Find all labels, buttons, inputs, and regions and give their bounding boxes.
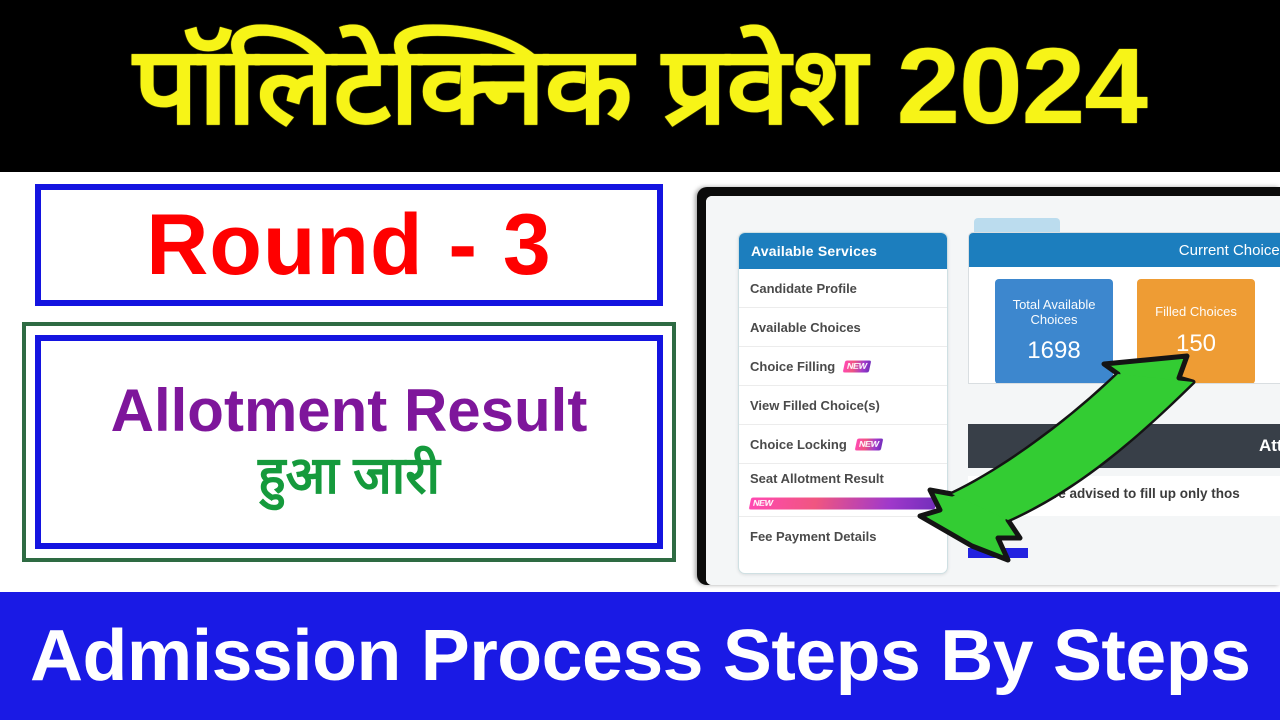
sidebar-item-seat-allotment-result[interactable]: Seat Allotment Result NEW — [739, 464, 947, 517]
service-label: Available Choices — [750, 320, 861, 335]
stat-value: 1698 — [1027, 337, 1080, 365]
note-number: 1 — [992, 486, 999, 501]
round-callout-box: Round - 3 — [35, 184, 663, 306]
sidebar-item-choice-locking[interactable]: Choice Locking NEW — [739, 425, 947, 464]
current-choice-header: Current Choice F — [969, 233, 1280, 267]
stat-value: 150 — [1176, 330, 1216, 358]
stat-label: Filled Choices — [1155, 305, 1237, 320]
thumbnail-canvas: पॉलिटेक्निक प्रवेश 2024 Round - 3 Allotm… — [0, 0, 1280, 720]
service-label: Choice Filling — [750, 359, 835, 374]
sidebar-item-view-filled-choices[interactable]: View Filled Choice(s) — [739, 386, 947, 425]
service-label: Fee Payment Details — [750, 529, 876, 544]
stat-filled-choices: Filled Choices 150 — [1137, 279, 1255, 384]
header-banner: पॉलिटेक्निक प्रवेश 2024 — [0, 0, 1280, 172]
allotment-result-label: Allotment Result — [111, 379, 588, 442]
footer-banner: Admission Process Steps By Steps — [0, 592, 1280, 720]
stat-label: Total Available Choices — [995, 298, 1113, 328]
current-choice-card: Current Choice F Total Available Choices… — [968, 232, 1280, 384]
current-choice-body: Total Available Choices 1698 Filled Choi… — [969, 267, 1280, 383]
card-tab-nub — [974, 218, 1060, 232]
portal-screenshot-frame: Available Services Candidate Profile Ava… — [697, 187, 1280, 585]
round-label: Round - 3 — [146, 202, 552, 288]
new-badge-icon: NEW — [855, 438, 883, 450]
service-label: Candidate Profile — [750, 281, 857, 296]
service-label: Seat Allotment Result — [750, 471, 884, 486]
attention-bar: Atte — [968, 424, 1280, 468]
new-badge-icon: NEW — [843, 360, 871, 372]
sidebar-item-fee-payment-details[interactable]: Fee Payment Details — [739, 517, 947, 556]
sidebar-item-available-choices[interactable]: Available Choices — [739, 308, 947, 347]
note-text: You are advised to fill up only thos — [1017, 486, 1240, 501]
portal-screenshot: Available Services Candidate Profile Ava… — [706, 196, 1280, 585]
allotment-status-label: हुआ जारी — [258, 448, 440, 505]
new-badge-icon: NEW — [749, 497, 938, 509]
sidebar-item-candidate-profile[interactable]: Candidate Profile — [739, 269, 947, 308]
sidebar-item-choice-filling[interactable]: Choice Filling NEW — [739, 347, 947, 386]
decorative-blue-strip — [968, 548, 1028, 558]
available-services-card: Available Services Candidate Profile Ava… — [738, 232, 948, 574]
service-label: View Filled Choice(s) — [750, 398, 880, 413]
footer-title: Admission Process Steps By Steps — [30, 620, 1250, 692]
allotment-callout-inner: Allotment Result हुआ जारी — [35, 335, 663, 549]
available-services-header: Available Services — [739, 233, 947, 269]
middle-section: Round - 3 Allotment Result हुआ जारी Avai… — [0, 172, 1280, 592]
attention-note-row: 1 You are advised to fill up only thos — [968, 476, 1280, 516]
allotment-callout-outer: Allotment Result हुआ जारी — [22, 322, 676, 562]
stat-total-available-choices: Total Available Choices 1698 — [995, 279, 1113, 384]
page-title: पॉलिटेक्निक प्रवेश 2024 — [133, 32, 1147, 140]
service-label: Choice Locking — [750, 437, 847, 452]
left-text-panel: Round - 3 Allotment Result हुआ जारी — [0, 172, 690, 592]
